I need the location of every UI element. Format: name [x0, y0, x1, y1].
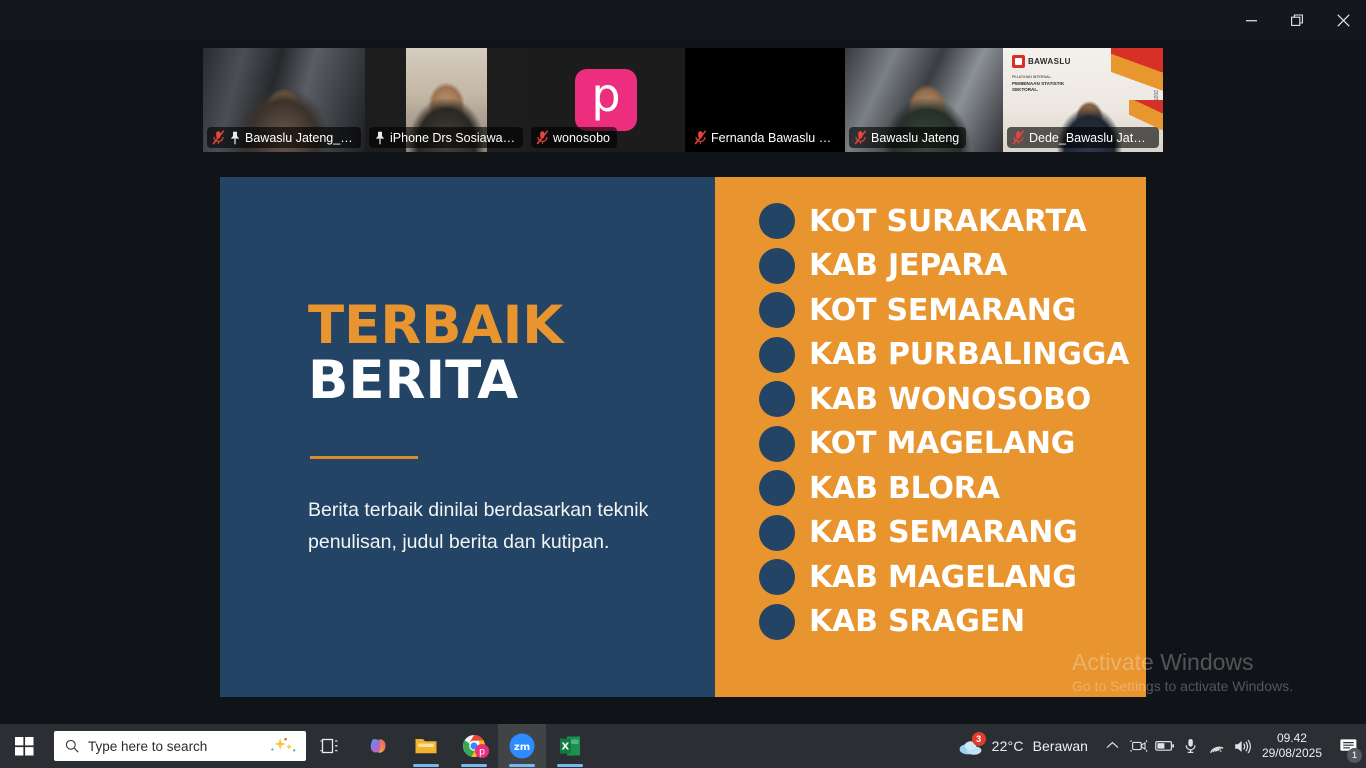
mic-muted-icon — [854, 130, 867, 145]
tray-camera-button[interactable] — [1126, 724, 1152, 768]
zoom-participant-strip[interactable]: Bawaslu Jateng_Ba...iPhone Drs Sosiawan,… — [203, 48, 1163, 152]
slide-right-panel: KOT SURAKARTAKAB JEPARAKOT SEMARANGKAB P… — [715, 177, 1146, 697]
bullet-icon — [759, 381, 795, 417]
task-view-button[interactable] — [306, 724, 354, 768]
list-item: KAB JEPARA — [759, 244, 1146, 289]
list-item: KOT SEMARANG — [759, 288, 1146, 333]
participant-name: Bawaslu Jateng — [871, 131, 959, 145]
bullet-icon — [759, 426, 795, 462]
taskbar-clock[interactable]: 09.42 29/08/2025 — [1256, 724, 1332, 768]
zoom-icon: zm — [509, 733, 535, 759]
bullet-icon — [759, 337, 795, 373]
mic-muted-icon — [536, 130, 549, 145]
running-indicator — [461, 764, 487, 767]
notification-count-badge: 1 — [1347, 748, 1362, 763]
start-button[interactable] — [0, 724, 48, 768]
participant-name-chip: Bawaslu Jateng — [849, 127, 966, 148]
file-explorer-icon — [414, 735, 438, 757]
search-placeholder: Type here to search — [88, 739, 259, 754]
wifi-icon — [1208, 739, 1226, 753]
participant-tile[interactable]: iPhone Drs Sosiawan,... — [365, 48, 527, 152]
microphone-icon — [1184, 738, 1197, 754]
card-year: 2025 — [1152, 90, 1158, 101]
weather-condition: Berawan — [1033, 738, 1088, 754]
svg-text:X: X — [562, 742, 570, 753]
slide-left-panel: TERBAIK BERITA Berita terbaik dinilai be… — [220, 177, 715, 697]
copilot-icon — [366, 734, 390, 758]
bawaslu-brand-text: BAWASLU — [1028, 57, 1071, 66]
tray-wifi-button[interactable] — [1204, 724, 1230, 768]
tray-microphone-button[interactable] — [1178, 724, 1204, 768]
close-icon — [1337, 14, 1350, 27]
participant-name: wonosobo — [553, 131, 610, 145]
desktop-root: Bawaslu Jateng_Ba...iPhone Drs Sosiawan,… — [0, 0, 1366, 768]
mic-muted-icon — [212, 130, 225, 145]
list-item-label: KAB JEPARA — [809, 248, 1007, 283]
list-item-label: KAB MAGELANG — [809, 560, 1077, 595]
bullet-icon — [759, 248, 795, 284]
list-item-label: KAB WONOSOBO — [809, 382, 1091, 417]
participant-name-chip: wonosobo — [531, 127, 617, 148]
windows-logo-icon — [15, 737, 34, 756]
svg-text:zm: zm — [514, 742, 530, 753]
system-tray — [1100, 724, 1256, 768]
list-item: KAB SEMARANG — [759, 511, 1146, 556]
slide-divider-rule — [310, 456, 418, 459]
weather-alert-badge: 3 — [972, 732, 986, 746]
list-item: KAB PURBALINGGA — [759, 333, 1146, 378]
participant-tile[interactable]: pwonosobo — [527, 48, 685, 152]
slide-description: Berita terbaik dinilai berdasarkan tekni… — [308, 495, 678, 558]
chrome-profile-badge-icon: p — [475, 744, 489, 758]
list-item: KAB BLORA — [759, 466, 1146, 511]
running-indicator — [413, 764, 439, 767]
restore-button[interactable] — [1274, 0, 1320, 40]
show-hidden-icons-button[interactable] — [1100, 724, 1126, 768]
card-title: PELATIHAN INTERNAL:PEMBINAAN STATISTIKSE… — [1012, 74, 1064, 94]
bullet-icon — [759, 203, 795, 239]
taskbar-app-zoom[interactable]: zm — [498, 724, 546, 768]
avatar: p — [575, 69, 637, 131]
taskbar-app-google-chrome[interactable]: p — [450, 724, 498, 768]
participant-name-chip: Bawaslu Jateng_Ba... — [207, 127, 361, 148]
list-item-label: KAB BLORA — [809, 471, 1000, 506]
participant-name: Dede_Bawaslu Jateng — [1029, 131, 1152, 145]
taskbar-app-copilot[interactable] — [354, 724, 402, 768]
weather-cloud-icon: 3 — [959, 736, 983, 756]
close-button[interactable] — [1320, 0, 1366, 40]
participant-name: Bawaslu Jateng_Ba... — [245, 131, 354, 145]
minimize-button[interactable] — [1228, 0, 1274, 40]
participant-name-chip: Dede_Bawaslu Jateng — [1007, 127, 1159, 148]
tray-battery-button[interactable] — [1152, 724, 1178, 768]
participant-name-chip: Fernanda Bawaslu Ko... — [689, 127, 841, 148]
list-item-label: KOT MAGELANG — [809, 426, 1075, 461]
search-icon — [65, 739, 79, 753]
participant-tile[interactable]: Bawaslu Jateng_Ba... — [203, 48, 365, 152]
bawaslu-mark-icon — [1012, 55, 1025, 68]
taskbar-app-file-explorer[interactable] — [402, 724, 450, 768]
list-item: KOT SURAKARTA — [759, 199, 1146, 244]
pin-icon — [229, 131, 241, 145]
excel-icon: X — [559, 735, 581, 757]
list-item-label: KAB PURBALINGGA — [809, 337, 1129, 372]
participant-name: Fernanda Bawaslu Ko... — [711, 131, 834, 145]
participant-tile[interactable]: BAWASLUPELATIHAN INTERNAL:PEMBINAAN STAT… — [1003, 48, 1163, 152]
window-titlebar — [0, 0, 1366, 40]
clock-time: 09.42 — [1277, 731, 1307, 746]
search-input[interactable]: Type here to search — [54, 731, 306, 761]
clock-date: 29/08/2025 — [1262, 746, 1322, 761]
participant-name: iPhone Drs Sosiawan,... — [390, 131, 516, 145]
chevron-up-icon — [1106, 741, 1119, 751]
volume-icon — [1234, 739, 1252, 754]
slide-title-line2: BERITA — [308, 352, 715, 409]
list-item: KAB SRAGEN — [759, 600, 1146, 645]
list-item: KAB MAGELANG — [759, 555, 1146, 600]
list-item: KOT MAGELANG — [759, 422, 1146, 467]
notification-center-button[interactable]: 1 — [1332, 724, 1366, 768]
mic-muted-icon — [1012, 130, 1025, 145]
list-item-label: KOT SURAKARTA — [809, 204, 1087, 239]
pin-icon — [374, 131, 386, 145]
presentation-slide: TERBAIK BERITA Berita terbaik dinilai be… — [220, 177, 1146, 697]
bullet-icon — [759, 604, 795, 640]
list-item: KAB WONOSOBO — [759, 377, 1146, 422]
list-item-label: KAB SRAGEN — [809, 604, 1025, 639]
task-view-icon — [320, 737, 340, 755]
svg-text:p: p — [479, 747, 485, 758]
list-item-label: KOT SEMARANG — [809, 293, 1076, 328]
tray-volume-button[interactable] — [1230, 724, 1256, 768]
taskbar-weather-widget[interactable]: 3 22°C Berawan — [951, 724, 1100, 768]
participant-name-chip: iPhone Drs Sosiawan,... — [369, 127, 523, 148]
copilot-sparkle-icon — [268, 737, 298, 755]
bullet-icon — [759, 292, 795, 328]
taskbar-app-microsoft-excel[interactable]: X — [546, 724, 594, 768]
minimize-icon — [1246, 15, 1257, 26]
camera-icon — [1130, 739, 1148, 753]
slide-title-line1: TERBAIK — [308, 299, 715, 352]
running-indicator — [557, 764, 583, 767]
windows-taskbar: Type here to search — [0, 724, 1366, 768]
participant-tile[interactable]: Fernanda Bawaslu Ko... — [685, 48, 845, 152]
list-item-label: KAB SEMARANG — [809, 515, 1078, 550]
mic-muted-icon — [694, 130, 707, 145]
bawaslu-logo: BAWASLU — [1012, 55, 1071, 68]
card-decoration — [1111, 48, 1163, 94]
bullet-icon — [759, 515, 795, 551]
restore-icon — [1291, 14, 1304, 27]
running-indicator — [509, 764, 535, 767]
battery-icon — [1155, 740, 1175, 752]
bullet-icon — [759, 559, 795, 595]
bullet-icon — [759, 470, 795, 506]
weather-temperature: 22°C — [992, 738, 1024, 754]
participant-tile[interactable]: Bawaslu Jateng — [845, 48, 1003, 152]
